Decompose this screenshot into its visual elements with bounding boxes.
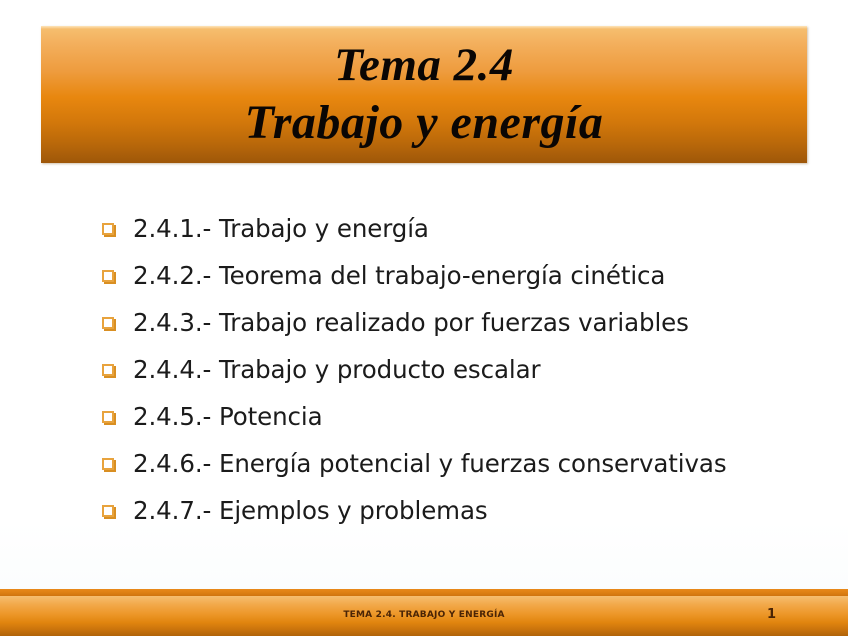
footer-title: TEMA 2.4. TRABAJO Y ENERGÍA: [0, 610, 848, 620]
square-bullet-icon: [102, 270, 114, 282]
presentation-slide: Tema 2.4 Trabajo y energía 2.4.1.- Traba…: [0, 0, 848, 636]
square-bullet-icon: [102, 411, 114, 423]
list-item-label: 2.4.4.- Trabajo y producto escalar: [133, 353, 540, 387]
list-item: 2.4.4.- Trabajo y producto escalar: [102, 353, 812, 400]
list-item-label: 2.4.1.- Trabajo y energía: [133, 212, 429, 246]
square-bullet-icon: [102, 458, 114, 470]
list-item: 2.4.6.- Energía potencial y fuerzas cons…: [102, 447, 812, 494]
slide-title-line-2: Trabajo y energía: [41, 94, 807, 151]
list-item-label: 2.4.3.- Trabajo realizado por fuerzas va…: [133, 306, 689, 340]
square-bullet-icon: [102, 505, 114, 517]
list-item: 2.4.7.- Ejemplos y problemas: [102, 494, 812, 541]
slide-title-line-1: Tema 2.4: [41, 37, 807, 94]
slide-title: Tema 2.4 Trabajo y energía: [41, 37, 807, 151]
list-item-label: 2.4.5.- Potencia: [133, 400, 323, 434]
list-item: 2.4.5.- Potencia: [102, 400, 812, 447]
square-bullet-icon: [102, 364, 114, 376]
list-item-label: 2.4.6.- Energía potencial y fuerzas cons…: [133, 447, 726, 481]
title-banner: Tema 2.4 Trabajo y energía: [41, 26, 807, 163]
list-item: 2.4.2.- Teorema del trabajo-energía ciné…: [102, 259, 812, 306]
footer-divider-rule: [0, 589, 848, 596]
list-item: 2.4.3.- Trabajo realizado por fuerzas va…: [102, 306, 812, 353]
square-bullet-icon: [102, 223, 114, 235]
square-bullet-icon: [102, 317, 114, 329]
list-item-label: 2.4.2.- Teorema del trabajo-energía ciné…: [133, 259, 665, 293]
list-item-label: 2.4.7.- Ejemplos y problemas: [133, 494, 488, 528]
slide-footer: TEMA 2.4. TRABAJO Y ENERGÍA 1: [0, 589, 848, 636]
page-number: 1: [767, 607, 776, 622]
slide-content-list: 2.4.1.- Trabajo y energía 2.4.2.- Teorem…: [102, 212, 812, 541]
list-item: 2.4.1.- Trabajo y energía: [102, 212, 812, 259]
